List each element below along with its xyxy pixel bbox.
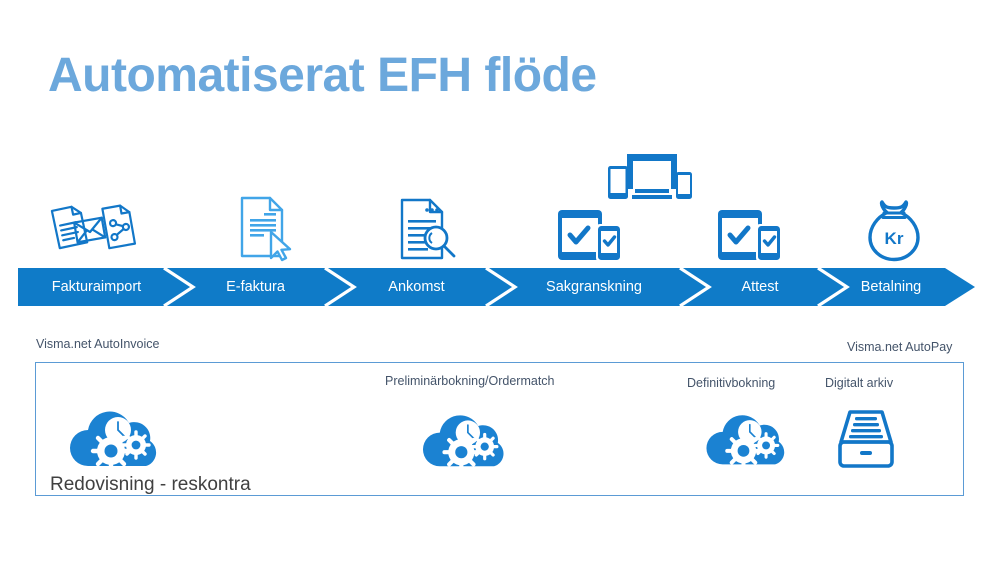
process-bar: [18, 268, 975, 306]
file-drawer-icon: [836, 408, 896, 470]
cloud-gears-clock-icon: [66, 408, 166, 470]
cloud-gears-clock-icon: [702, 412, 794, 468]
panel-label-definitivbokning: Definitivbokning: [687, 376, 775, 390]
page-title: Automatiserat EFH flöde: [48, 48, 597, 103]
caption-autopay: Visma.net AutoPay: [847, 340, 952, 354]
svg-text:Kr: Kr: [885, 229, 904, 248]
document-search-icon: [392, 196, 464, 262]
tablet-phone-check-icon: [716, 208, 788, 262]
caption-autoinvoice: Visma.net AutoInvoice: [36, 337, 159, 351]
money-bag-kr-icon: Kr: [862, 198, 926, 262]
cloud-gears-clock-icon: [418, 412, 514, 470]
invoice-import-icon: [38, 196, 142, 262]
e-invoice-cursor-icon: [226, 192, 306, 262]
ledger-title: Redovisning - reskontra: [50, 474, 251, 496]
panel-label-digitalt-arkiv: Digitalt arkiv: [825, 376, 893, 390]
panel-label-preliminarbokning: Preliminärbokning/Ordermatch: [385, 374, 555, 388]
tablet-phone-check-icon: [556, 208, 628, 262]
monitor-tablet-phone-icon: [606, 152, 698, 202]
